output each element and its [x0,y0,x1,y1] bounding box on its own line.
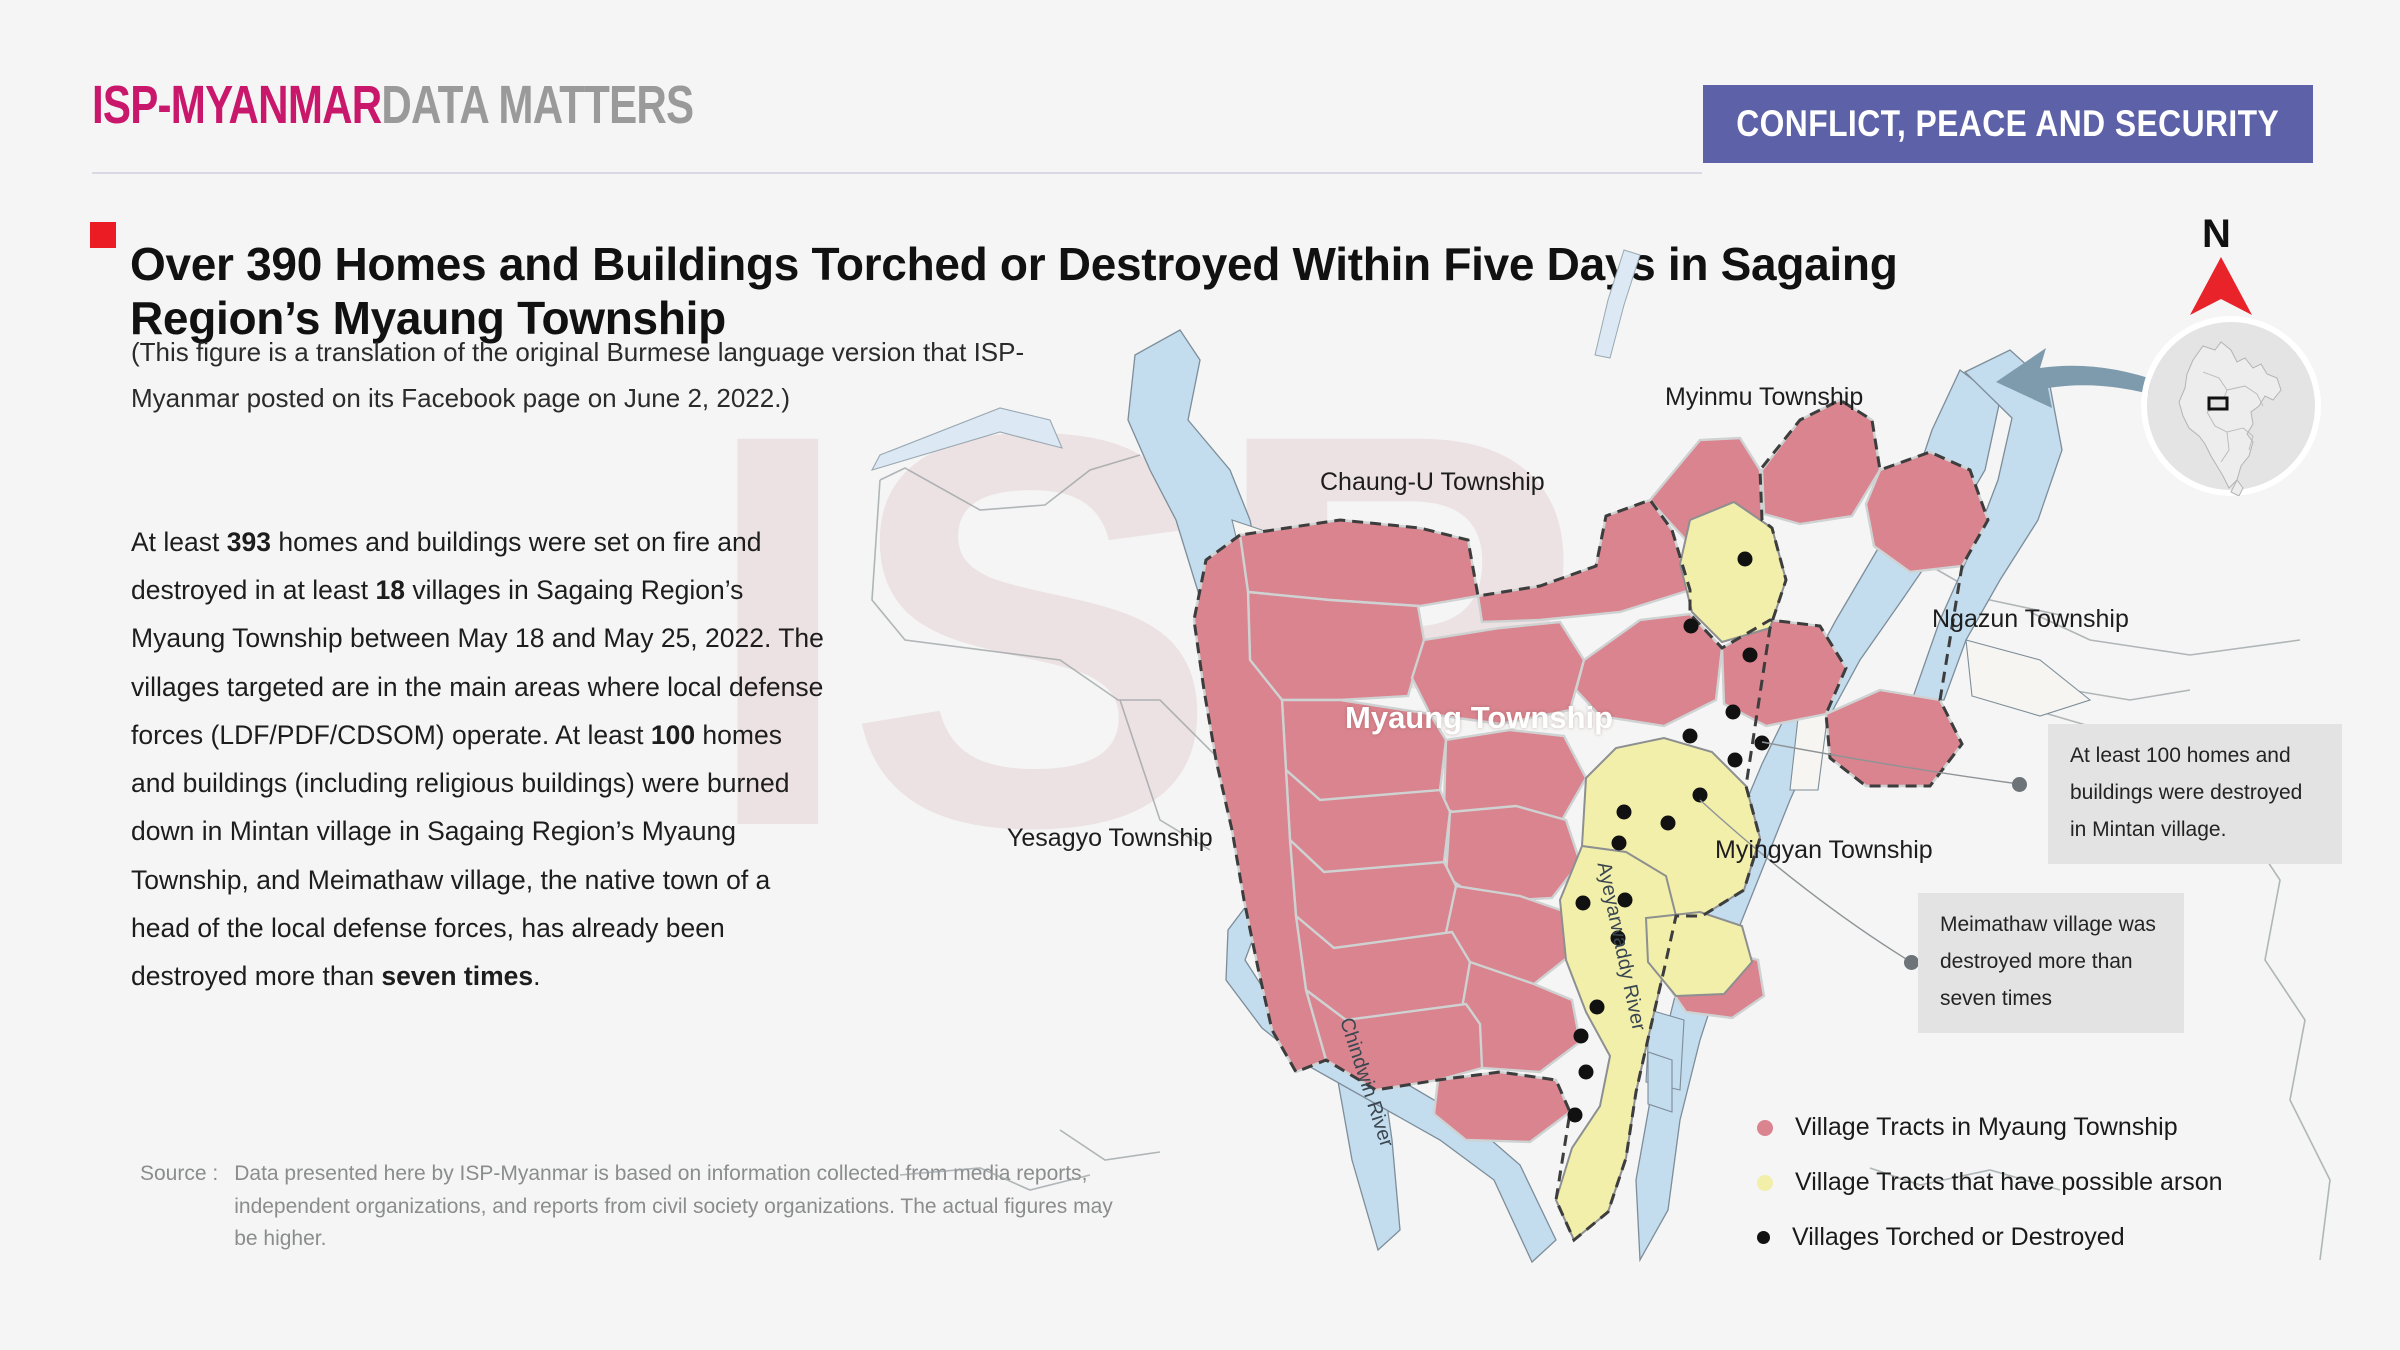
village-dot [1743,648,1758,663]
legend-swatch-arson-tract-icon [1757,1175,1773,1191]
village-dot [1738,552,1753,567]
compass-north-label: N [2202,212,2231,257]
inset-locator-marker [2209,398,2227,409]
callout-meimathaw: Meimathaw village was destroyed more tha… [1918,893,2184,1033]
village-dot [1728,753,1743,768]
chindwin-river-upper-branch [872,408,1062,470]
label-myinmu-township: Myinmu Township [1665,383,1863,412]
locator-inset-map [2141,316,2321,496]
village-dot [1612,836,1627,851]
legend-label-arson-tracts: Village Tracts that have possible arson [1795,1168,2223,1197]
village-dot [1568,1108,1583,1123]
small-lake [1648,1052,1672,1112]
village-dot [1684,619,1699,634]
label-yesagyo-township: Yesagyo Township [1007,824,1213,853]
ayeyarwaddy-east-island [1966,640,2090,716]
callout-dot-mintan [2012,777,2027,792]
label-myaung-township: Myaung Township [1345,700,1613,736]
village-dot [1726,705,1741,720]
legend-swatch-village-tract-icon [1757,1120,1773,1136]
label-chaungu-township: Chaung-U Township [1320,468,1545,497]
label-ngazun-township: Ngazun Township [1932,605,2129,634]
legend-item-arson-tracts: Village Tracts that have possible arson [1757,1155,2223,1210]
legend-item-village-tracts: Village Tracts in Myaung Township [1757,1100,2223,1155]
village-dot [1576,896,1591,911]
label-myingyan-township: Myingyan Township [1715,836,1933,865]
village-dot [1683,729,1698,744]
north-arrow-icon [2186,255,2256,319]
river-tributary-north [1595,250,1640,358]
legend-label-torched-villages: Villages Torched or Destroyed [1792,1223,2125,1252]
village-dot [1574,1029,1589,1044]
myaung-village-tracts [1194,400,1988,1142]
legend-item-torched-villages: Villages Torched or Destroyed [1757,1210,2223,1265]
village-dot [1579,1065,1594,1080]
legend-label-village-tracts: Village Tracts in Myaung Township [1795,1113,2178,1142]
callout-mintan: At least 100 homes and buildings were de… [2048,724,2342,864]
village-dot [1617,805,1632,820]
map-legend: Village Tracts in Myaung Township Villag… [1757,1100,2223,1265]
callout-dot-meimathaw [1904,955,1919,970]
village-dot [1661,816,1676,831]
legend-swatch-village-dot-icon [1757,1231,1770,1244]
village-dot [1590,1000,1605,1015]
infographic-canvas: ISP ISP-MYANMARDATA MATTERS CONFLICT, PE… [0,0,2400,1350]
